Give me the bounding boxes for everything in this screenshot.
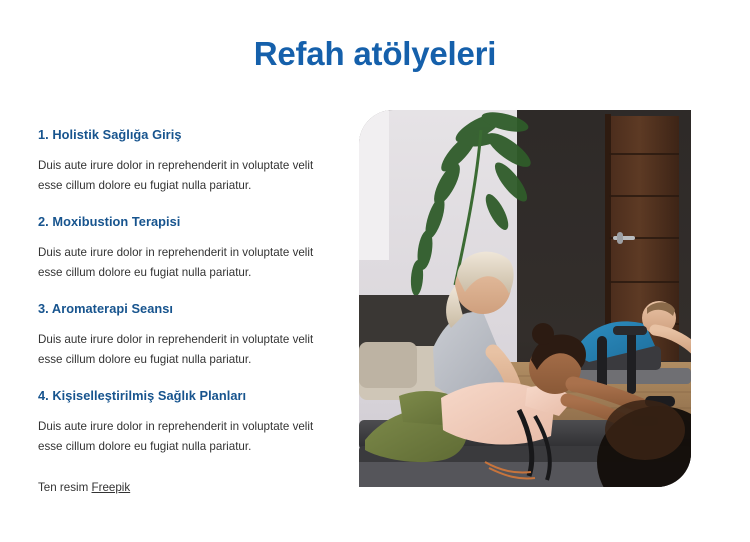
section-body-4: Duis aute irure dolor in reprehenderit i… <box>38 417 316 456</box>
studio-photo <box>359 110 691 487</box>
section-body-2: Duis aute irure dolor in reprehenderit i… <box>38 243 316 282</box>
section-heading-3: 3. Aromaterapi Seansı <box>38 300 328 317</box>
content-column: 1. Holistik Sağlığa Giriş Duis aute irur… <box>38 126 328 497</box>
section-item: 2. Moxibustion Terapisi Duis aute irure … <box>38 213 328 282</box>
section-body-1: Duis aute irure dolor in reprehenderit i… <box>38 156 316 195</box>
section-heading-1: 1. Holistik Sağlığa Giriş <box>38 126 328 143</box>
image-credit: Ten resim Freepik <box>38 478 328 497</box>
section-item: 4. Kişiselleştirilmiş Sağlık Planları Du… <box>38 387 328 456</box>
section-item: 1. Holistik Sağlığa Giriş Duis aute irur… <box>38 126 328 195</box>
section-heading-4: 4. Kişiselleştirilmiş Sağlık Planları <box>38 387 328 404</box>
freepik-link[interactable]: Freepik <box>92 481 131 494</box>
section-item: 3. Aromaterapi Seansı Duis aute irure do… <box>38 300 328 369</box>
page-title: Refah atölyeleri <box>0 34 750 74</box>
section-body-3: Duis aute irure dolor in reprehenderit i… <box>38 330 316 369</box>
section-heading-2: 2. Moxibustion Terapisi <box>38 213 328 230</box>
image-credit-prefix: Ten resim <box>38 481 88 494</box>
page-root: Refah atölyeleri 1. Holistik Sağlığa Gir… <box>0 0 750 542</box>
studio-photo-illustration <box>359 110 691 487</box>
